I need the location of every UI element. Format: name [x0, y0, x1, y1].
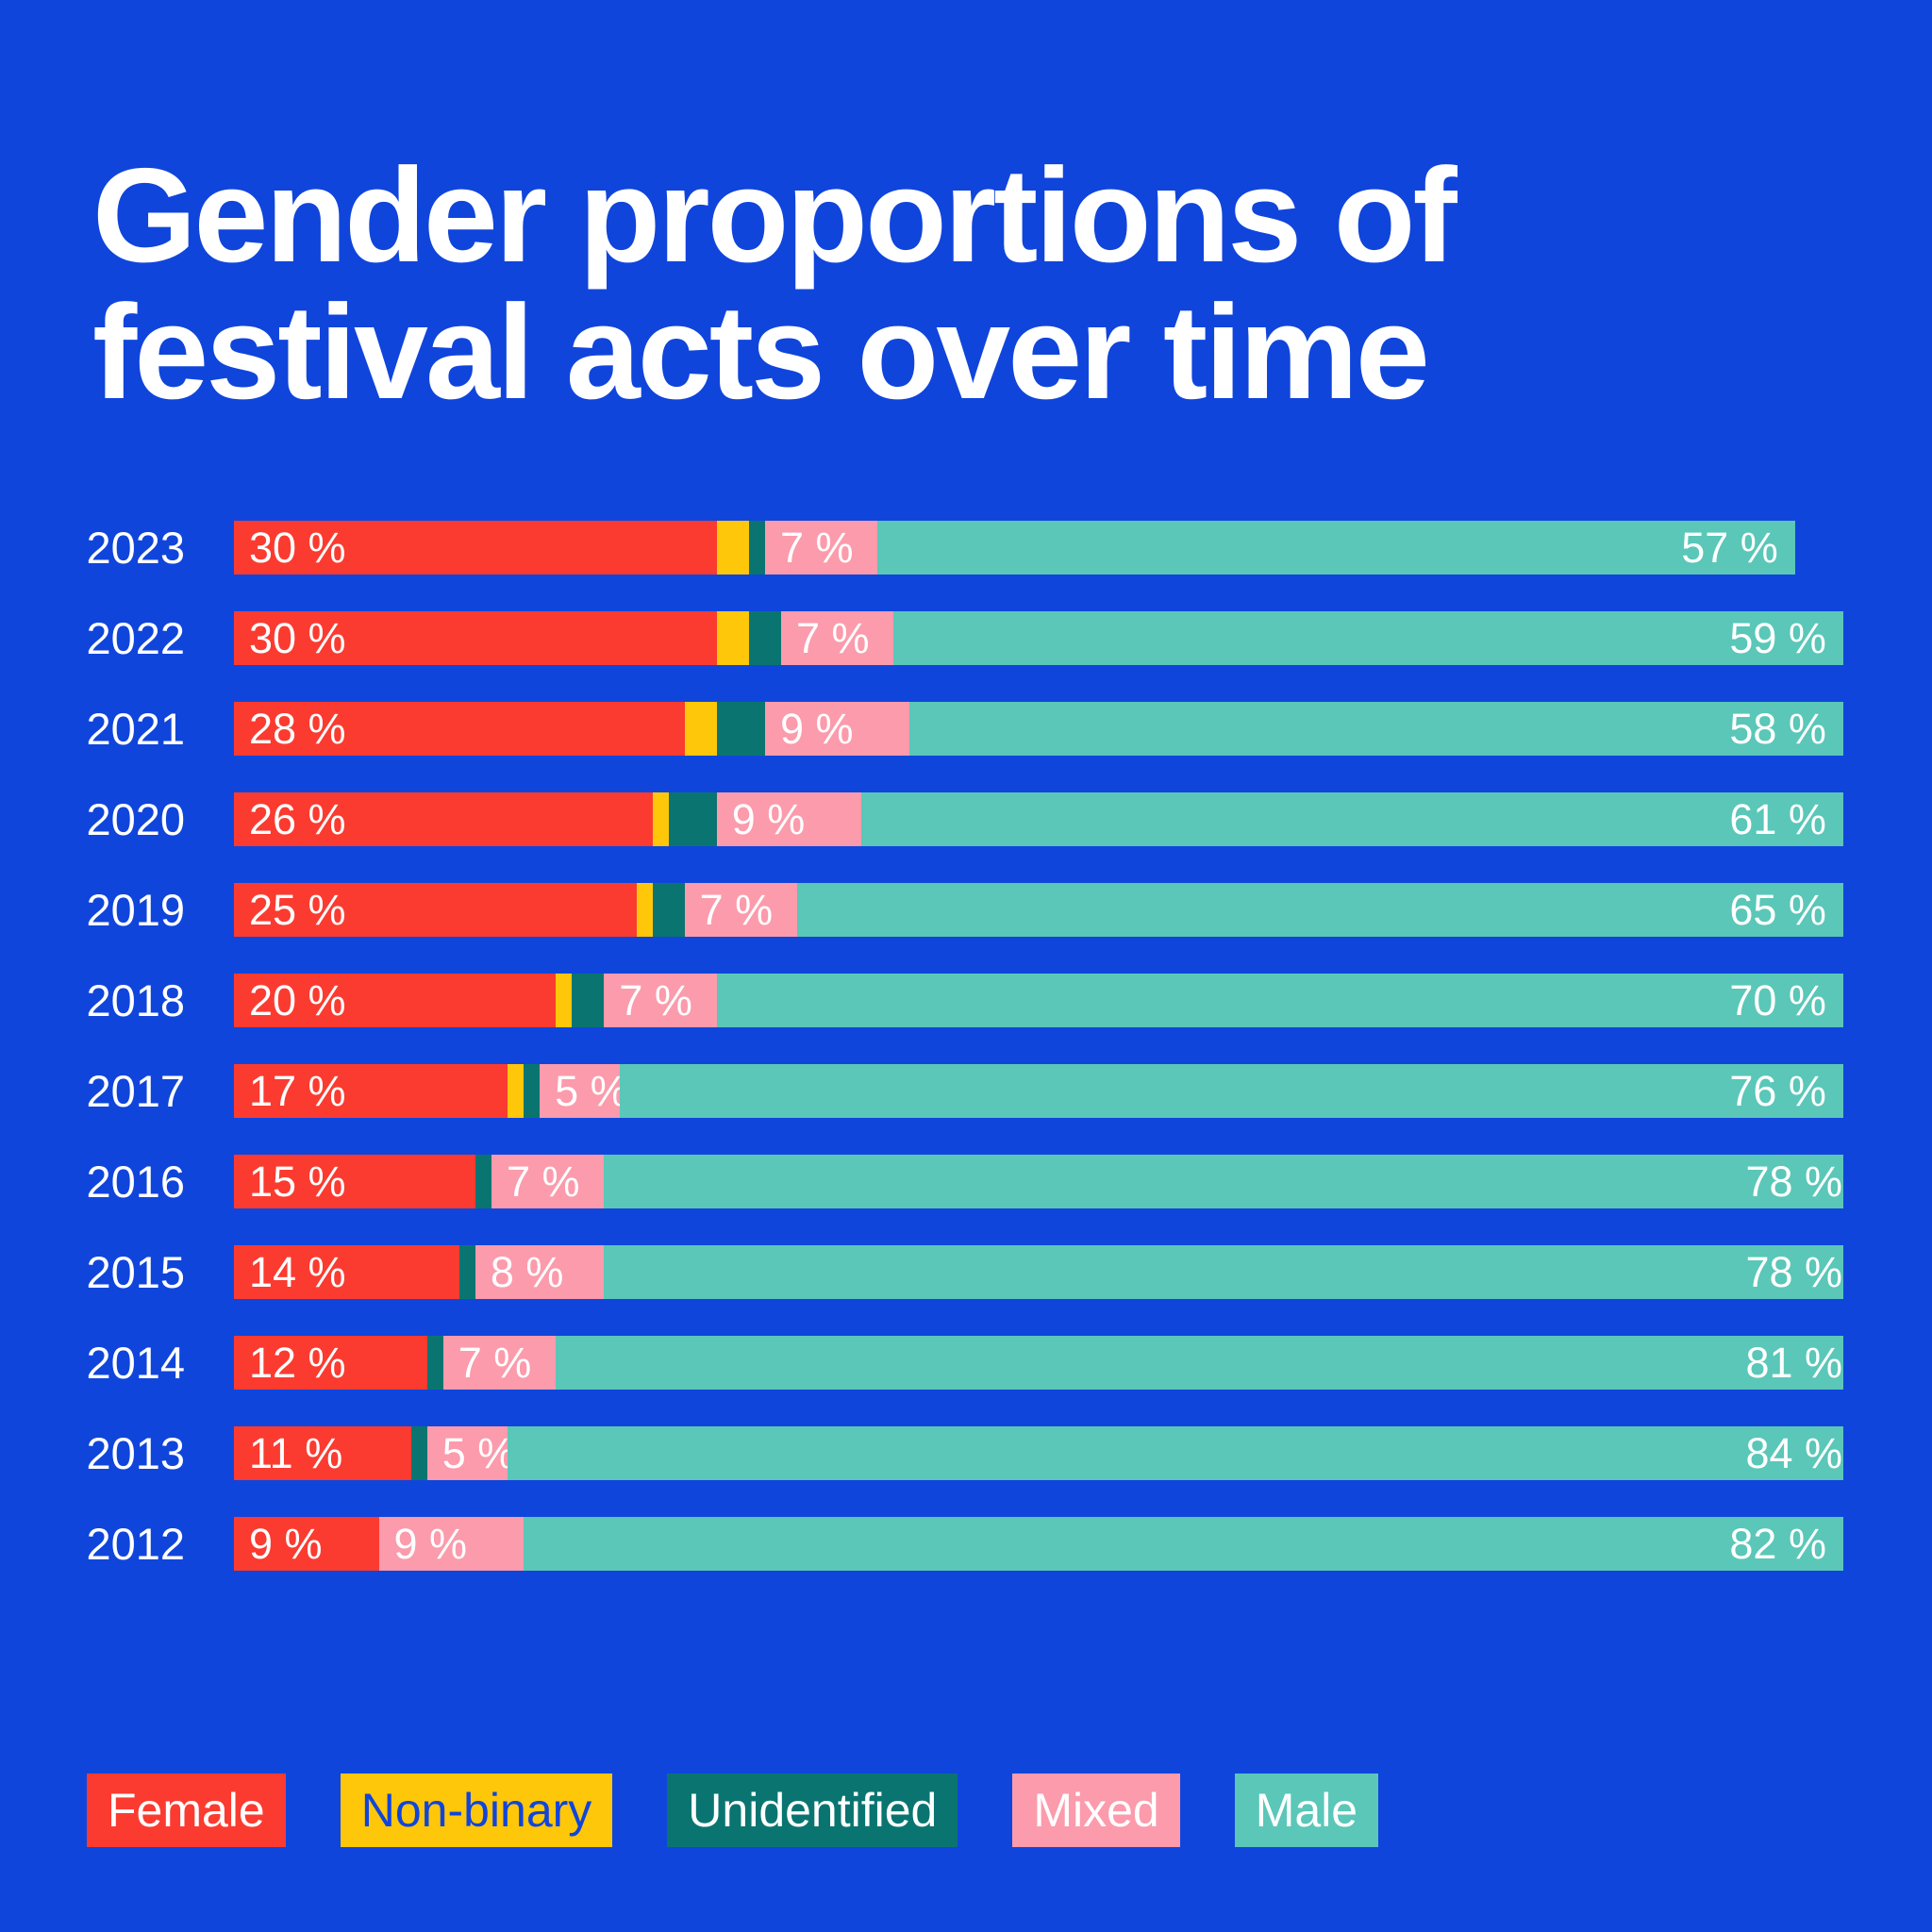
segment-value-label: 7 % [604, 976, 692, 1025]
segment-male: 84 % [508, 1426, 1843, 1480]
legend-item-female[interactable]: Female [87, 1774, 286, 1847]
segment-value-label: 28 % [234, 705, 346, 754]
stacked-bar: 28 %9 %58 % [234, 702, 1843, 756]
stacked-bar: 11 %5 %84 % [234, 1426, 1843, 1480]
segment-value-label: 7 % [443, 1339, 532, 1388]
segment-value-label: 26 % [234, 795, 346, 844]
segment-value-label: 9 % [379, 1520, 468, 1569]
segment-female: 20 % [234, 974, 556, 1027]
segment-value-label: 25 % [234, 886, 346, 935]
segment-female: 30 % [234, 611, 717, 665]
segment-male: 81 % [556, 1336, 1843, 1390]
stacked-bar: 26 %9 %61 % [234, 792, 1843, 846]
segment-mixed: 5 % [427, 1426, 508, 1480]
segment-male: 78 % [604, 1155, 1843, 1208]
segment-value-label: 61 % [1729, 795, 1843, 844]
segment-female: 12 % [234, 1336, 427, 1390]
chart-legend: FemaleNon-binaryUnidentifiedMixedMale [87, 1774, 1378, 1847]
legend-item-label: Female [108, 1787, 265, 1834]
segment-mixed: 5 % [540, 1064, 620, 1118]
segment-unidentified [411, 1426, 427, 1480]
segment-mixed: 9 % [717, 792, 862, 846]
segment-value-label: 70 % [1729, 976, 1843, 1025]
legend-item-label: Male [1256, 1787, 1357, 1834]
segment-mixed: 7 % [443, 1336, 556, 1390]
year-label: 2022 [0, 611, 209, 665]
stacked-bar: 12 %7 %81 % [234, 1336, 1843, 1390]
segment-mixed: 7 % [491, 1155, 604, 1208]
legend-item-mixed[interactable]: Mixed [1012, 1774, 1179, 1847]
chart-row: 20129 %9 %82 % [0, 1517, 1932, 1571]
segment-value-label: 30 % [234, 614, 346, 663]
year-label: 2019 [0, 883, 209, 937]
stacked-bar: 30 %7 %57 % [234, 521, 1843, 575]
segment-value-label: 76 % [1729, 1067, 1843, 1116]
segment-value-label: 9 % [234, 1520, 323, 1569]
segment-male: 58 % [909, 702, 1842, 756]
infographic-canvas: Gender proportions of festival acts over… [0, 0, 1932, 1932]
segment-non-binary [717, 611, 749, 665]
segment-non-binary [556, 974, 572, 1027]
segment-male: 82 % [524, 1517, 1843, 1571]
segment-value-label: 17 % [234, 1067, 346, 1116]
segment-female: 15 % [234, 1155, 475, 1208]
segment-female: 14 % [234, 1245, 459, 1299]
segment-value-label: 78 % [1745, 1248, 1843, 1297]
segment-unidentified [653, 883, 685, 937]
year-label: 2013 [0, 1426, 209, 1480]
segment-male: 57 % [877, 521, 1794, 575]
segment-mixed: 7 % [685, 883, 797, 937]
chart-row: 202230 %7 %59 % [0, 611, 1932, 665]
chart-row: 201820 %7 %70 % [0, 974, 1932, 1027]
chart-row: 201311 %5 %84 % [0, 1426, 1932, 1480]
segment-non-binary [653, 792, 669, 846]
segment-unidentified [749, 521, 765, 575]
segment-value-label: 5 % [427, 1429, 508, 1478]
year-label: 2015 [0, 1245, 209, 1299]
year-label: 2014 [0, 1336, 209, 1390]
segment-male: 59 % [893, 611, 1843, 665]
segment-value-label: 12 % [234, 1339, 346, 1388]
segment-non-binary [717, 521, 749, 575]
segment-unidentified [669, 792, 717, 846]
chart-row: 201412 %7 %81 % [0, 1336, 1932, 1390]
segment-female: 17 % [234, 1064, 508, 1118]
chart-row: 201514 %8 %78 % [0, 1245, 1932, 1299]
segment-female: 9 % [234, 1517, 379, 1571]
chart-row: 201717 %5 %76 % [0, 1064, 1932, 1118]
segment-female: 30 % [234, 521, 717, 575]
chart-row: 202128 %9 %58 % [0, 702, 1932, 756]
segment-value-label: 20 % [234, 976, 346, 1025]
segment-non-binary [637, 883, 653, 937]
segment-value-label: 82 % [1729, 1520, 1843, 1569]
segment-value-label: 65 % [1729, 886, 1843, 935]
segment-value-label: 8 % [475, 1248, 564, 1297]
segment-male: 70 % [717, 974, 1843, 1027]
segment-value-label: 9 % [765, 705, 854, 754]
segment-non-binary [685, 702, 717, 756]
stacked-bar: 25 %7 %65 % [234, 883, 1843, 937]
segment-unidentified [524, 1064, 540, 1118]
segment-male: 76 % [620, 1064, 1843, 1118]
segment-female: 11 % [234, 1426, 411, 1480]
segment-value-label: 57 % [1681, 524, 1795, 573]
segment-value-label: 9 % [717, 795, 806, 844]
chart-row: 202330 %7 %57 % [0, 521, 1932, 575]
segment-male: 61 % [861, 792, 1843, 846]
segment-unidentified [475, 1155, 491, 1208]
segment-mixed: 9 % [765, 702, 910, 756]
segment-mixed: 9 % [379, 1517, 525, 1571]
segment-mixed: 7 % [604, 974, 716, 1027]
chart-row: 201615 %7 %78 % [0, 1155, 1932, 1208]
stacked-bar-chart: 202330 %7 %57 %202230 %7 %59 %202128 %9 … [0, 521, 1932, 1571]
page-title: Gender proportions of festival acts over… [92, 148, 1847, 422]
year-label: 2018 [0, 974, 209, 1027]
segment-female: 28 % [234, 702, 685, 756]
year-label: 2017 [0, 1064, 209, 1118]
segment-value-label: 15 % [234, 1158, 346, 1207]
segment-mixed: 8 % [475, 1245, 604, 1299]
year-label: 2020 [0, 792, 209, 846]
chart-row: 201925 %7 %65 % [0, 883, 1932, 937]
segment-mixed: 7 % [765, 521, 877, 575]
legend-item-male[interactable]: Male [1235, 1774, 1378, 1847]
year-label: 2023 [0, 521, 209, 575]
year-label: 2016 [0, 1155, 209, 1208]
segment-value-label: 84 % [1745, 1429, 1843, 1478]
chart-row: 202026 %9 %61 % [0, 792, 1932, 846]
stacked-bar: 30 %7 %59 % [234, 611, 1843, 665]
segment-value-label: 7 % [685, 886, 774, 935]
segment-value-label: 7 % [781, 614, 870, 663]
legend-item-non-binary[interactable]: Non-binary [341, 1774, 613, 1847]
segment-value-label: 5 % [540, 1067, 620, 1116]
segment-value-label: 59 % [1729, 614, 1843, 663]
year-label: 2021 [0, 702, 209, 756]
segment-unidentified [427, 1336, 443, 1390]
legend-item-label: Unidentified [688, 1787, 937, 1834]
segment-value-label: 78 % [1745, 1158, 1843, 1207]
stacked-bar: 14 %8 %78 % [234, 1245, 1843, 1299]
segment-non-binary [508, 1064, 524, 1118]
stacked-bar: 17 %5 %76 % [234, 1064, 1843, 1118]
segment-unidentified [572, 974, 604, 1027]
segment-female: 26 % [234, 792, 653, 846]
legend-item-label: Non-binary [361, 1787, 592, 1834]
segment-value-label: 11 % [234, 1429, 342, 1478]
segment-value-label: 58 % [1729, 705, 1843, 754]
segment-unidentified [749, 611, 781, 665]
segment-value-label: 30 % [234, 524, 346, 573]
stacked-bar: 20 %7 %70 % [234, 974, 1843, 1027]
stacked-bar: 9 %9 %82 % [234, 1517, 1843, 1571]
segment-male: 65 % [797, 883, 1843, 937]
legend-item-unidentified[interactable]: Unidentified [667, 1774, 958, 1847]
segment-unidentified [459, 1245, 475, 1299]
legend-item-label: Mixed [1033, 1787, 1158, 1834]
year-label: 2012 [0, 1517, 209, 1571]
segment-value-label: 7 % [491, 1158, 580, 1207]
stacked-bar: 15 %7 %78 % [234, 1155, 1843, 1208]
segment-value-label: 81 % [1745, 1339, 1843, 1388]
segment-female: 25 % [234, 883, 637, 937]
segment-value-label: 14 % [234, 1248, 346, 1297]
segment-male: 78 % [604, 1245, 1843, 1299]
segment-mixed: 7 % [781, 611, 893, 665]
segment-value-label: 7 % [765, 524, 854, 573]
segment-unidentified [717, 702, 765, 756]
